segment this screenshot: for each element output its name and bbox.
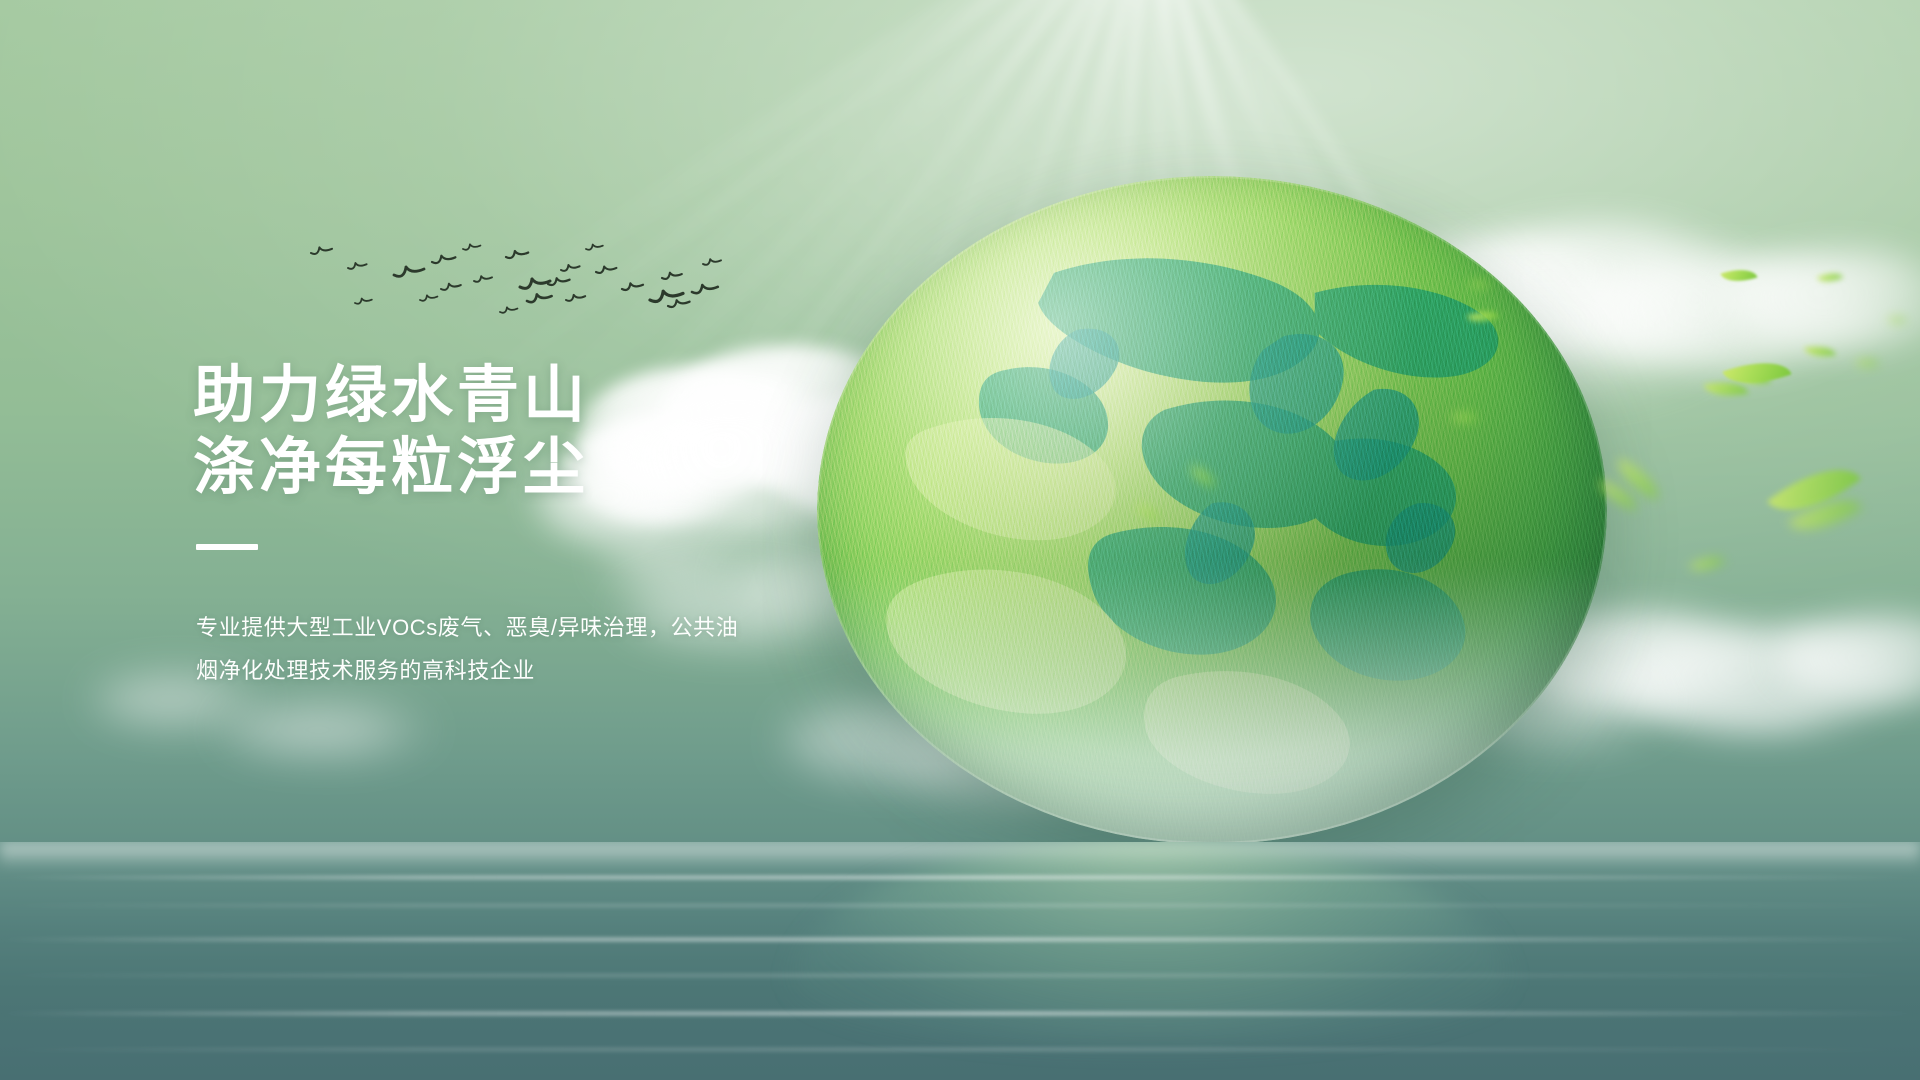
bird-icon [506,251,528,258]
leaf-icon [1721,263,1758,288]
bird-icon [566,295,585,301]
title-divider [196,544,258,550]
water-ripple [0,904,1920,907]
water-ripple [0,1048,1920,1051]
bird-icon [441,284,461,290]
bird-icon [703,259,721,265]
bird-icon [500,307,517,312]
bird-icon [662,273,682,279]
leaf-icon [1610,458,1666,501]
leaf-icon [1767,447,1861,533]
globe-rim [817,176,1607,844]
bird-icon [348,263,367,269]
bird-icon [692,285,718,293]
bird-icon [355,299,372,304]
bird-icon [432,256,455,263]
bird-icon [561,265,580,271]
bird-icon [311,247,332,254]
leaf-icon [1817,268,1843,288]
bird-icon [394,267,424,276]
water-ripple [0,974,1920,977]
water-ripple [0,876,1920,879]
bird-icon [520,279,550,288]
globe-reflection [790,842,1510,1046]
bird-icon [622,283,643,290]
cloud-puff [1720,250,1920,350]
page-title-line-1: 助力绿水青山 [193,360,913,432]
bird-icon [596,267,616,273]
leaf-icon [1689,549,1726,579]
leaf-icon [1704,376,1749,402]
leaf-icon [1788,483,1863,547]
cloud-puff [1770,616,1920,704]
cloud-puff [220,704,440,756]
leaf-icon [1855,355,1879,371]
hero-description: 专业提供大型工业VOCs废气、恶臭/异味治理，公共油烟净化处理技术服务的高科技企… [196,607,756,693]
hero-copy: 助力绿水青山 涤净每粒浮尘 专业提供大型工业VOCs废气、恶臭/异味治理，公共油… [193,360,913,693]
bird-icon [668,300,690,307]
leaf-icon [1887,313,1907,326]
hero-banner: 助力绿水青山 涤净每粒浮尘 专业提供大型工业VOCs废气、恶臭/异味治理，公共油… [0,0,1920,1080]
page-title-line-2: 涤净每粒浮尘 [193,432,913,504]
water-ripple [0,938,1920,941]
leaf-icon [1804,342,1836,360]
cloud-puff [1610,626,1910,734]
water-ripple [0,1012,1920,1015]
bird-icon [650,291,683,301]
bird-icon [463,244,480,249]
bird-icon [548,278,570,285]
bird-icon [527,294,552,302]
green-grass-earth-globe [817,176,1607,844]
water-surface-reflection [0,842,1920,1080]
bird-icon [474,276,492,282]
cloud-puff [1570,254,1870,370]
bird-icon [420,295,437,300]
leaf-icon [1722,350,1791,396]
leaf-icon [1741,371,1771,389]
bird-icon [586,245,603,250]
